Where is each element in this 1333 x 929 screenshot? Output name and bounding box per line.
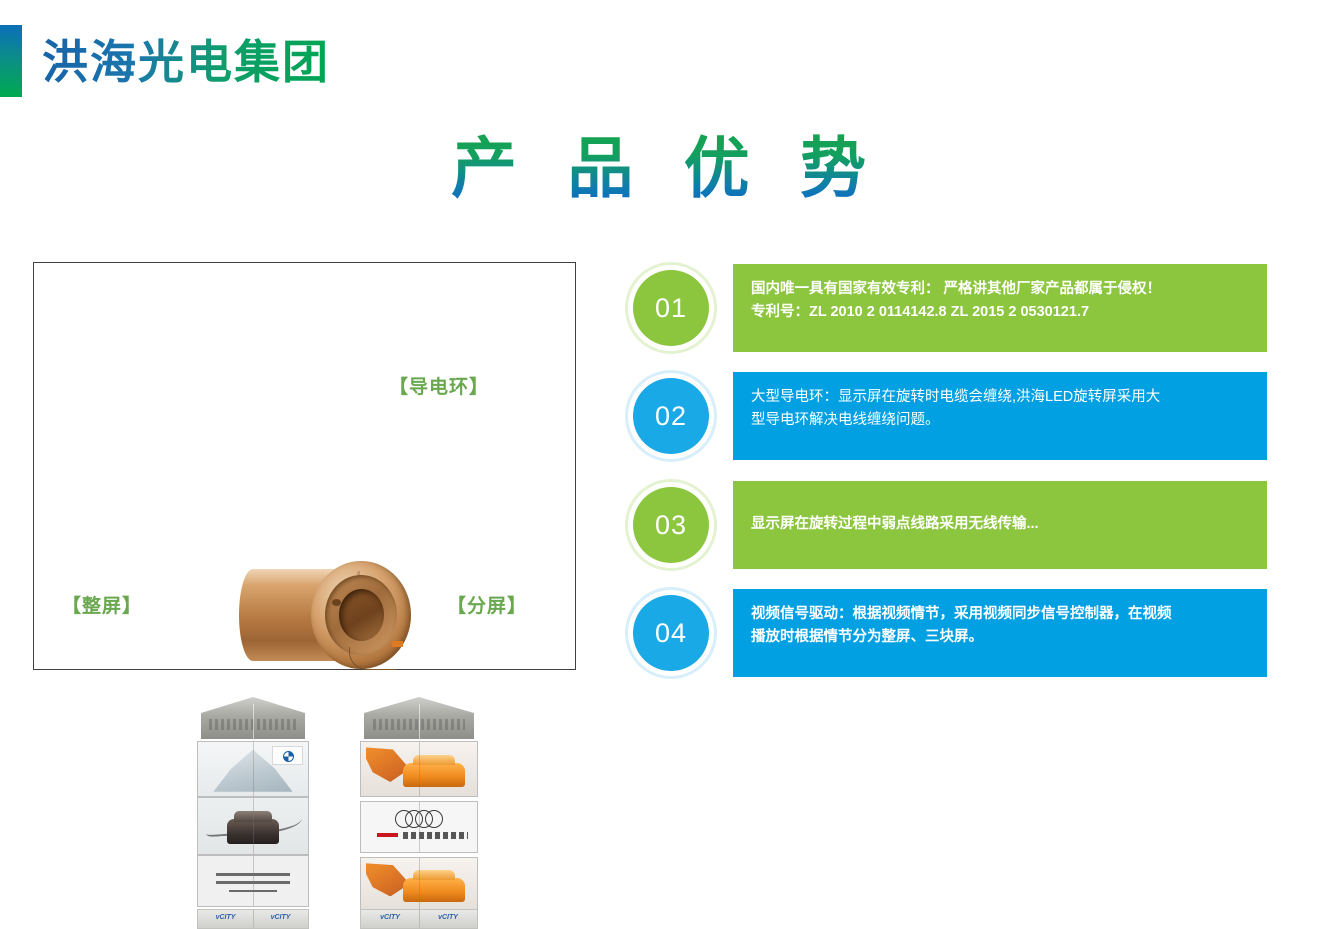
tower-base: vCITY vCITY <box>197 909 309 929</box>
feature-number-badge: 03 <box>633 487 709 563</box>
ad-text-line <box>216 873 291 876</box>
feature-text: 国内唯一具有国家有效专利： 严格讲其他厂家产品都属于侵权！ 专利号：ZL 201… <box>751 278 1249 324</box>
feature-box: 视频信号驱动：根据视频情节，采用视频同步信号控制器，在视频 播放时根据情节分为整… <box>733 589 1267 677</box>
feature-number-badge: 01 <box>633 270 709 346</box>
audi-wordmark <box>377 833 398 837</box>
slip-ring-terminal <box>392 641 403 647</box>
bmw-logo-icon <box>272 746 303 764</box>
feature-number-badge: 04 <box>633 595 709 671</box>
feature-number-badge: 02 <box>633 378 709 454</box>
tower-cap <box>201 697 305 739</box>
tower-base-brand: vCITY <box>260 914 302 922</box>
feature-text: 大型导电环：显示屏在旋转时电缆会缠绕,洪海LED旋转屏采用大 型导电环解决电线缠… <box>751 386 1249 432</box>
label-split-screen: 【分屏】 <box>447 591 527 618</box>
tower-screen-segment-middle <box>360 801 478 853</box>
brand-name: 洪海光电集团 <box>42 33 330 91</box>
tower-display-full-screen: vCITY vCITY <box>197 697 309 929</box>
badge-wrapper: 04 <box>625 587 717 679</box>
label-full-screen: 【整屏】 <box>62 591 142 618</box>
ad-text-line <box>216 881 291 884</box>
tower-cap-text <box>373 719 465 730</box>
badge-wrapper: 03 <box>625 479 717 571</box>
tower-screen-segment-bottom <box>197 855 309 907</box>
brand-accent-bar <box>0 25 22 97</box>
feature-box: 显示屏在旋转过程中弱点线路采用无线传输... <box>733 481 1267 569</box>
page-title: 产 品 优 势 <box>0 126 1333 210</box>
feature-row-04[interactable]: 04 视频信号驱动：根据视频情节，采用视频同步信号控制器，在视频 播放时根据情节… <box>620 587 1280 679</box>
slip-ring-wire <box>349 647 396 670</box>
ad-text-line <box>229 890 277 892</box>
feature-row-03[interactable]: 03 显示屏在旋转过程中弱点线路采用无线传输... <box>620 479 1280 571</box>
tower-screen-segment-bottom <box>360 857 478 911</box>
car-graphic <box>403 763 466 788</box>
tower-screen-segment-middle <box>197 797 309 855</box>
feature-row-01[interactable]: 01 国内唯一具有国家有效专利： 严格讲其他厂家产品都属于侵权！ 专利号：ZL … <box>620 262 1280 354</box>
audi-rings-icon <box>395 810 443 826</box>
feature-box: 国内唯一具有国家有效专利： 严格讲其他厂家产品都属于侵权！ 专利号：ZL 201… <box>733 264 1267 352</box>
feature-text: 视频信号驱动：根据视频情节，采用视频同步信号控制器，在视频 播放时根据情节分为整… <box>751 603 1249 649</box>
feature-text: 显示屏在旋转过程中弱点线路采用无线传输... <box>751 495 1249 536</box>
slip-ring-bore <box>339 589 384 641</box>
car-graphic <box>403 878 466 902</box>
tower-base-brand: vCITY <box>368 914 412 922</box>
feature-list: 01 国内唯一具有国家有效专利： 严格讲其他厂家产品都属于侵权！ 专利号：ZL … <box>620 262 1280 682</box>
feature-row-02[interactable]: 02 大型导电环：显示屏在旋转时电缆会缠绕,洪海LED旋转屏采用大 型导电环解决… <box>620 370 1280 462</box>
badge-wrapper: 01 <box>625 262 717 354</box>
tower-base-brand: vCITY <box>205 914 247 922</box>
slip-ring-notch <box>332 599 341 606</box>
label-slip-ring: 【导电环】 <box>389 372 489 399</box>
road-graphic <box>204 799 303 838</box>
slide-header: 洪海光电集团 <box>0 0 1333 110</box>
feature-box: 大型导电环：显示屏在旋转时电缆会缠绕,洪海LED旋转屏采用大 型导电环解决电线缠… <box>733 372 1267 460</box>
tower-base-brand: vCITY <box>426 914 470 922</box>
tower-display-split-screen: vCITY vCITY <box>360 697 478 929</box>
tower-screen-segment-top <box>197 741 309 797</box>
tower-cap-text <box>209 719 296 730</box>
ad-text-line <box>403 832 468 839</box>
tower-screen-segment-top <box>360 741 478 797</box>
tower-cap <box>364 697 474 739</box>
slip-ring-image <box>239 555 414 673</box>
car-graphic <box>227 819 280 844</box>
tower-base: vCITY vCITY <box>360 909 478 929</box>
badge-wrapper: 02 <box>625 370 717 462</box>
